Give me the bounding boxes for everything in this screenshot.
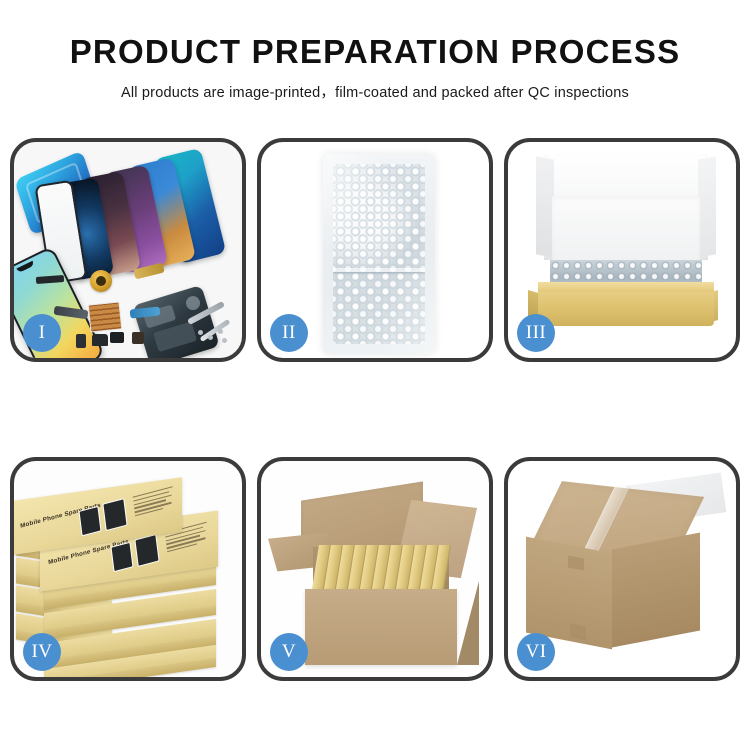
- sealed-carton-right-face-icon: [612, 532, 700, 647]
- header: PRODUCT PREPARATION PROCESS All products…: [0, 0, 750, 102]
- carton-body-icon: [305, 589, 457, 665]
- step-badge-3: III: [517, 314, 555, 352]
- chip-2-icon: [76, 334, 86, 348]
- step-panel-1: I: [10, 138, 246, 362]
- box-screen-image-1: [78, 506, 101, 537]
- carton-tab-bottom-icon: [570, 623, 586, 640]
- step-panel-3: III: [504, 138, 740, 362]
- box-screen-image-4: [134, 534, 159, 567]
- screws-icon: [196, 328, 230, 344]
- box-spec-lines-1: [133, 486, 177, 519]
- step-panel-5: V: [257, 457, 493, 681]
- step-badge-1: I: [23, 314, 61, 352]
- bubble-wrapped-product-icon: [333, 164, 425, 344]
- carton-contents-icon: [315, 545, 447, 595]
- infographic-page: PRODUCT PREPARATION PROCESS All products…: [0, 0, 750, 750]
- step-panel-4: Mobile Phone Spare Parts Mobile Phone Sp…: [10, 457, 246, 681]
- page-subtitle: All products are image-printed，film-coat…: [0, 81, 750, 102]
- page-title: PRODUCT PREPARATION PROCESS: [0, 34, 750, 70]
- chip-1-icon: [110, 332, 124, 343]
- step-badge-2: II: [270, 314, 308, 352]
- step-badge-5: V: [270, 633, 308, 671]
- foam-insert-icon: [552, 196, 700, 262]
- chip-3-icon: [132, 332, 144, 344]
- step-badge-6: VI: [517, 633, 555, 671]
- step-panel-6: VI: [504, 457, 740, 681]
- box-screen-image-2: [102, 498, 127, 531]
- copper-shield-icon: [88, 301, 123, 332]
- step-badge-4: IV: [23, 633, 61, 671]
- steps-grid: I II: [10, 138, 740, 681]
- kraft-box-tray-icon: [538, 290, 714, 326]
- speaker-module-icon: [92, 334, 108, 346]
- box-screen-image-3: [110, 542, 133, 573]
- vibrator-motor-icon: [90, 270, 112, 292]
- step-panel-2: II: [257, 138, 493, 362]
- carton-body-side-icon: [457, 581, 479, 665]
- phone-backplate-icon: [132, 285, 220, 358]
